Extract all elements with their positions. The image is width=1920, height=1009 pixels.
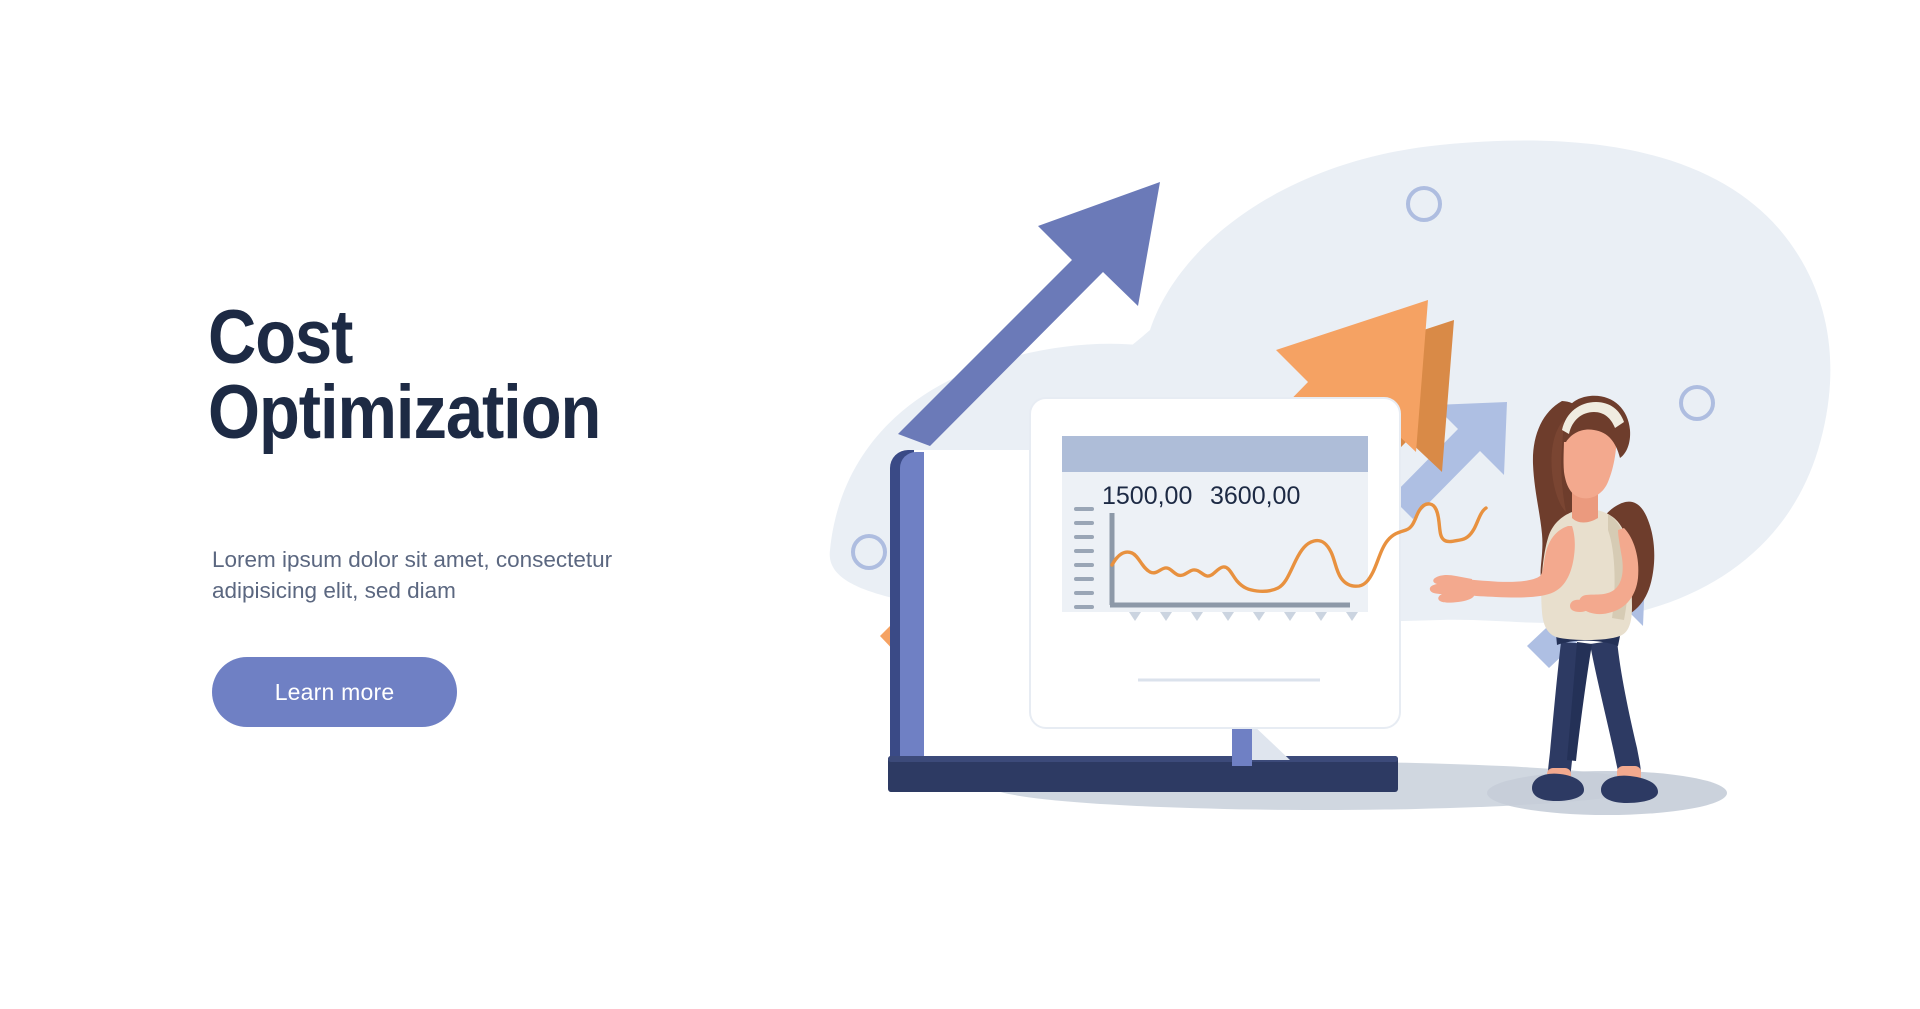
page-title: Cost Optimization xyxy=(208,300,666,450)
chart-value-label-2: 3600,00 xyxy=(1210,482,1300,510)
laptop-base-highlight xyxy=(888,756,1398,762)
cost-optimization-illustration: 1500,00 3600,00 xyxy=(820,120,1880,880)
learn-more-button[interactable]: Learn more xyxy=(212,657,457,727)
dashboard-card-header-bar xyxy=(1062,436,1368,472)
hand-right xyxy=(1570,600,1590,612)
hero-copy: Cost Optimization Lorem ipsum dolor sit … xyxy=(208,300,728,450)
leg-right xyxy=(1590,640,1641,781)
laptop-bezel-left xyxy=(900,452,924,758)
chart-value-label-1: 1500,00 xyxy=(1102,482,1192,510)
hero-subtext: Lorem ipsum dolor sit amet, consectetur … xyxy=(212,545,682,606)
hero-page: Cost Optimization Lorem ipsum dolor sit … xyxy=(0,0,1920,1009)
